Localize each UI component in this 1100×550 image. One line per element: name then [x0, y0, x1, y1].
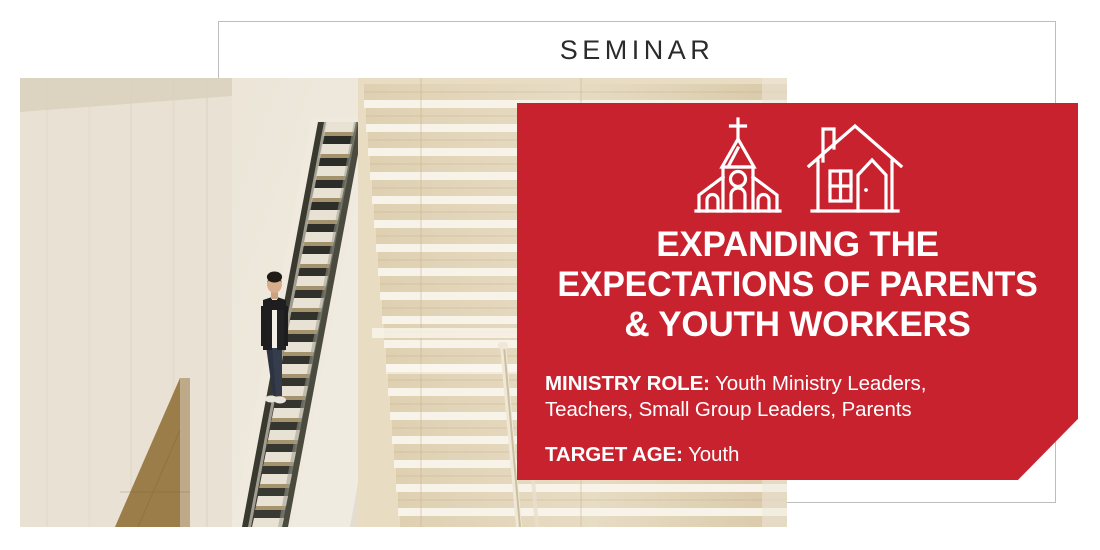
- meta-target-age-value: Youth: [683, 443, 739, 466]
- info-card: EXPANDING THE EXPECTATIONS OF PARENTS & …: [517, 103, 1078, 480]
- meta-target-age-line-1: TARGET AGE: Youth: [545, 442, 1045, 468]
- house-icon: [806, 115, 904, 215]
- icon-row: [517, 115, 1078, 215]
- seminar-promo-card: SEMINAR: [0, 0, 1100, 550]
- church-icon: [692, 115, 784, 215]
- meta-ministry-role: MINISTRY ROLE: Youth Ministry Leaders, T…: [545, 371, 1045, 423]
- meta-ministry-role-line-1: MINISTRY ROLE: Youth Ministry Leaders,: [545, 371, 1045, 397]
- card-title-line-2: EXPECTATIONS OF PARENTS: [541, 265, 1054, 305]
- meta-ministry-role-value-1: Youth Ministry Leaders,: [710, 372, 926, 395]
- meta-target-age: TARGET AGE: Youth: [545, 442, 1045, 468]
- card-title: EXPANDING THE EXPECTATIONS OF PARENTS & …: [533, 225, 1062, 345]
- card-title-line-3: & YOUTH WORKERS: [533, 305, 1062, 345]
- card-title-line-1: EXPANDING THE: [533, 225, 1062, 265]
- meta-target-age-label: TARGET AGE:: [545, 443, 683, 466]
- card-meta: MINISTRY ROLE: Youth Ministry Leaders, T…: [545, 371, 1045, 468]
- meta-ministry-role-label: MINISTRY ROLE:: [545, 372, 710, 395]
- meta-ministry-role-line-2: Teachers, Small Group Leaders, Parents: [545, 397, 1045, 423]
